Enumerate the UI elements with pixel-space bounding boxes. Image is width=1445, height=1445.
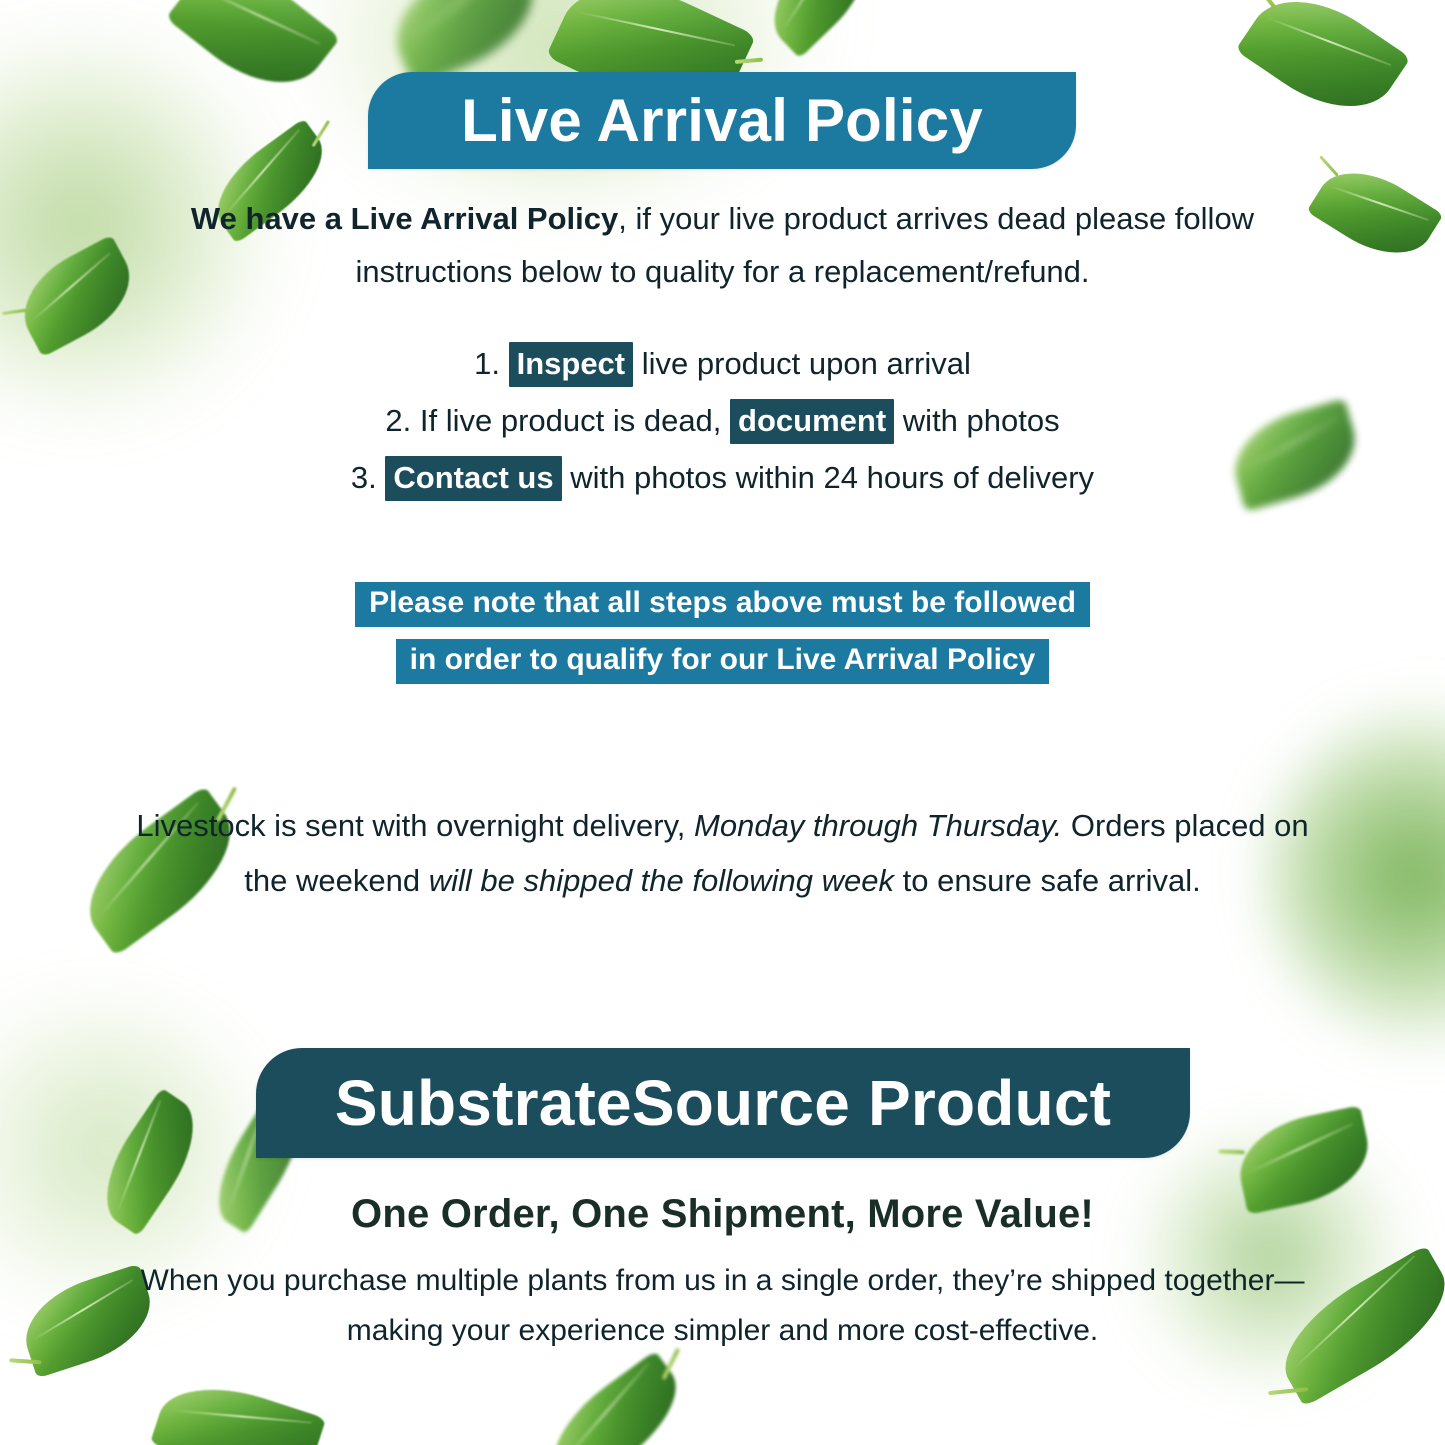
value-proposition-heading: One Order, One Shipment, More Value! bbox=[130, 1192, 1315, 1237]
ship-line1-normal: Livestock is sent with overnight deliver… bbox=[136, 808, 685, 843]
step-suffix: with photos bbox=[903, 403, 1060, 438]
live-arrival-policy-banner: Live Arrival Policy bbox=[368, 72, 1076, 169]
step-highlight-document: document bbox=[730, 399, 894, 444]
step-suffix: live product upon arrival bbox=[642, 346, 971, 381]
substrate-banner-title-text: SubstrateSource Product bbox=[335, 1066, 1111, 1140]
leaf-decoration bbox=[754, 0, 886, 58]
steps-list: 1. Inspect live product upon arrival 2. … bbox=[130, 348, 1315, 519]
intro-paragraph: We have a Live Arrival Policy, if your l… bbox=[130, 192, 1315, 299]
list-item: 1. Inspect live product upon arrival bbox=[130, 348, 1315, 379]
value-proposition-body: When you purchase multiple plants from u… bbox=[130, 1256, 1315, 1356]
step-prefix: If live product is dead, bbox=[420, 403, 722, 438]
ship-line1-italic: Monday through Thursday. bbox=[694, 808, 1062, 843]
leaf-decoration bbox=[534, 1351, 696, 1445]
leaf-decoration bbox=[166, 0, 341, 110]
step-highlight-inspect: Inspect bbox=[509, 342, 634, 387]
ship-line3-normal: to ensure safe arrival. bbox=[903, 863, 1201, 898]
policy-note-callout: Please note that all steps above must be… bbox=[130, 582, 1315, 696]
ship-line2-italic: will be shipped the following week bbox=[429, 863, 894, 898]
substratesource-product-banner: SubstrateSource Product bbox=[256, 1048, 1190, 1158]
step-number: 2. bbox=[385, 403, 411, 438]
intro-bold-lead: We have a Live Arrival Policy bbox=[191, 201, 618, 236]
note-line-1: Please note that all steps above must be… bbox=[355, 582, 1090, 627]
leaf-decoration bbox=[1235, 0, 1411, 134]
live-arrival-policy-graphic: Live Arrival Policy We have a Live Arriv… bbox=[0, 0, 1445, 1445]
leaf-decoration bbox=[1306, 152, 1443, 274]
shipping-schedule-paragraph: Livestock is sent with overnight deliver… bbox=[130, 798, 1315, 908]
step-highlight-contact-us[interactable]: Contact us bbox=[385, 456, 561, 501]
banner-title-text: Live Arrival Policy bbox=[461, 86, 983, 155]
step-number: 3. bbox=[351, 460, 377, 495]
list-item: 2. If live product is dead, document wit… bbox=[130, 405, 1315, 436]
step-suffix: with photos within 24 hours of delivery bbox=[570, 460, 1094, 495]
note-line-2: in order to qualify for our Live Arrival… bbox=[396, 639, 1050, 684]
leaf-decoration bbox=[150, 1369, 326, 1445]
list-item: 3. Contact us with photos within 24 hour… bbox=[130, 462, 1315, 493]
step-number: 1. bbox=[474, 346, 500, 381]
bokeh-glow-left-mid bbox=[0, 1000, 260, 1300]
leaf-decoration bbox=[7, 235, 147, 358]
